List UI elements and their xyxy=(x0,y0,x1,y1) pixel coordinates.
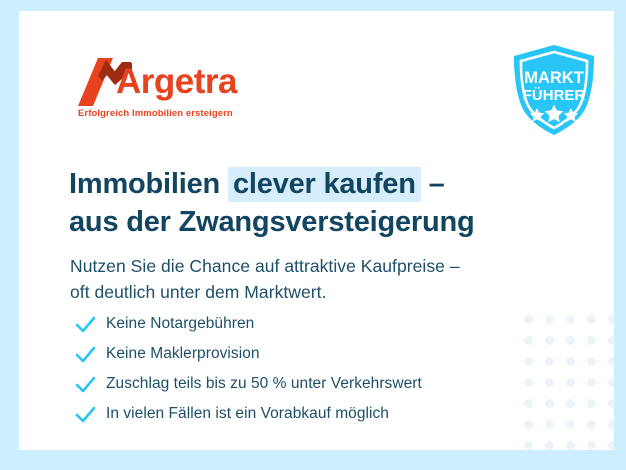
dot-decoration xyxy=(608,336,614,345)
dot-decoration xyxy=(566,336,575,345)
badge-line2: FÜHRER xyxy=(523,87,586,104)
logo-wordmark: Argetra xyxy=(116,64,237,99)
subheadline-line-2: oft deutlich unter dem Marktwert. xyxy=(70,279,590,306)
dot-decoration xyxy=(587,315,596,324)
list-item: Zuschlag teils bis zu 50 % unter Verkehr… xyxy=(73,369,543,399)
headline-suffix: – xyxy=(421,168,445,200)
headline-highlight: clever kaufen xyxy=(228,167,421,202)
dot-decoration xyxy=(608,441,614,450)
dot-decoration xyxy=(608,399,614,408)
dot-decoration xyxy=(587,420,596,429)
dot-decoration xyxy=(545,399,554,408)
dot-decoration xyxy=(608,357,614,366)
check-icon xyxy=(73,312,98,337)
benefit-list: Keine Notargebühren Keine Maklerprovisio… xyxy=(73,309,543,429)
dot-decoration xyxy=(587,441,596,450)
dot-decoration xyxy=(566,315,575,324)
dot-decoration xyxy=(608,315,614,324)
benefit-label: Keine Notargebühren xyxy=(106,315,254,333)
list-item: Keine Maklerprovision xyxy=(73,339,543,369)
dot-decoration xyxy=(545,336,554,345)
dot-decoration xyxy=(545,315,554,324)
check-icon xyxy=(73,342,98,367)
headline-line-1: Immobilien clever kaufen – xyxy=(69,167,445,202)
dot-decoration xyxy=(566,378,575,387)
dot-decoration xyxy=(545,357,554,366)
dot-decoration xyxy=(524,441,533,450)
dot-decoration xyxy=(587,357,596,366)
logo-tagline: Erfolgreich Immobilien ersteigern xyxy=(78,108,233,119)
ad-banner: Argetra Erfolgreich Immobilien ersteiger… xyxy=(0,0,626,470)
dot-decoration xyxy=(545,378,554,387)
badge-line1: MARKT xyxy=(524,69,584,87)
market-leader-badge: MARKT FÜHRER xyxy=(506,42,602,138)
ad-card: Argetra Erfolgreich Immobilien ersteiger… xyxy=(19,11,614,450)
check-icon xyxy=(73,372,98,397)
check-icon xyxy=(73,402,98,427)
dot-decoration xyxy=(587,336,596,345)
dot-decoration xyxy=(587,378,596,387)
dot-decoration xyxy=(566,357,575,366)
headline-prefix: Immobilien xyxy=(69,168,228,200)
dot-decoration xyxy=(587,399,596,408)
benefit-label: Keine Maklerprovision xyxy=(106,345,260,363)
benefit-label: Zuschlag teils bis zu 50 % unter Verkehr… xyxy=(106,375,422,393)
list-item: In vielen Fällen ist ein Vorabkauf mögli… xyxy=(73,399,543,429)
page-subheadline: Nutzen Sie die Chance auf attraktive Kau… xyxy=(70,253,590,306)
dot-decoration xyxy=(545,441,554,450)
dot-decoration xyxy=(608,420,614,429)
page-headline: Immobilien clever kaufen – aus der Zwang… xyxy=(69,166,569,240)
dot-decoration xyxy=(566,399,575,408)
argetra-logo[interactable]: Argetra Erfolgreich Immobilien ersteiger… xyxy=(76,56,276,124)
dot-decoration xyxy=(566,441,575,450)
list-item: Keine Notargebühren xyxy=(73,309,543,339)
dot-decoration xyxy=(566,420,575,429)
subheadline-line-1: Nutzen Sie die Chance auf attraktive Kau… xyxy=(70,253,590,280)
dot-decoration xyxy=(608,378,614,387)
benefit-label: In vielen Fällen ist ein Vorabkauf mögli… xyxy=(106,405,389,423)
headline-line-2: aus der Zwangsversteigerung xyxy=(69,206,475,238)
dot-decoration xyxy=(545,420,554,429)
